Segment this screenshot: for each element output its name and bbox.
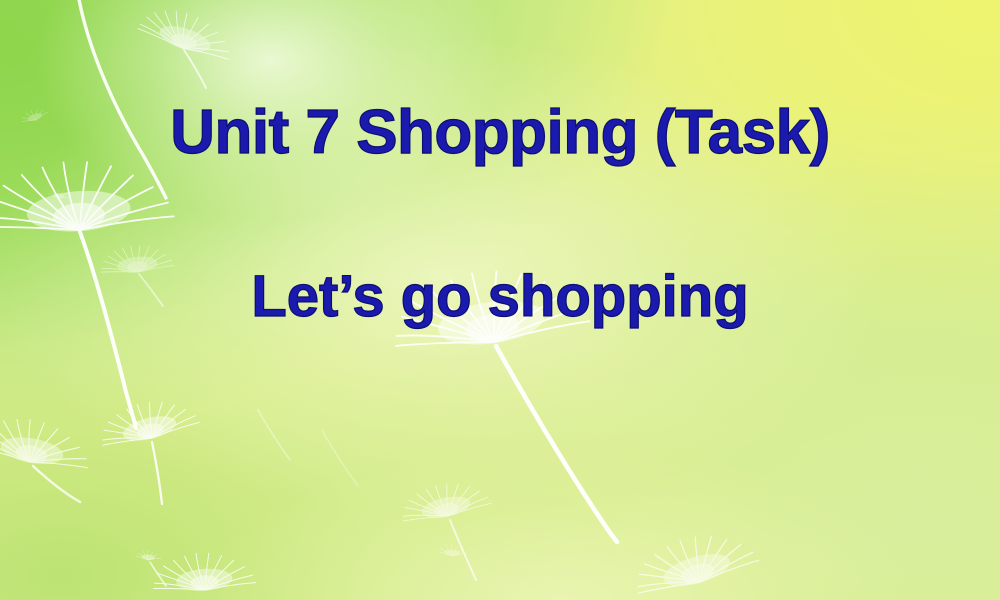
slide-title: Unit 7 Shopping (Task) — [0, 97, 1000, 169]
slide-text-block: Unit 7 Shopping (Task) Let’s go shopping — [0, 0, 1000, 600]
presentation-slide: Unit 7 Shopping (Task) Let’s go shopping — [0, 0, 1000, 600]
slide-subtitle: Let’s go shopping — [0, 262, 1000, 332]
